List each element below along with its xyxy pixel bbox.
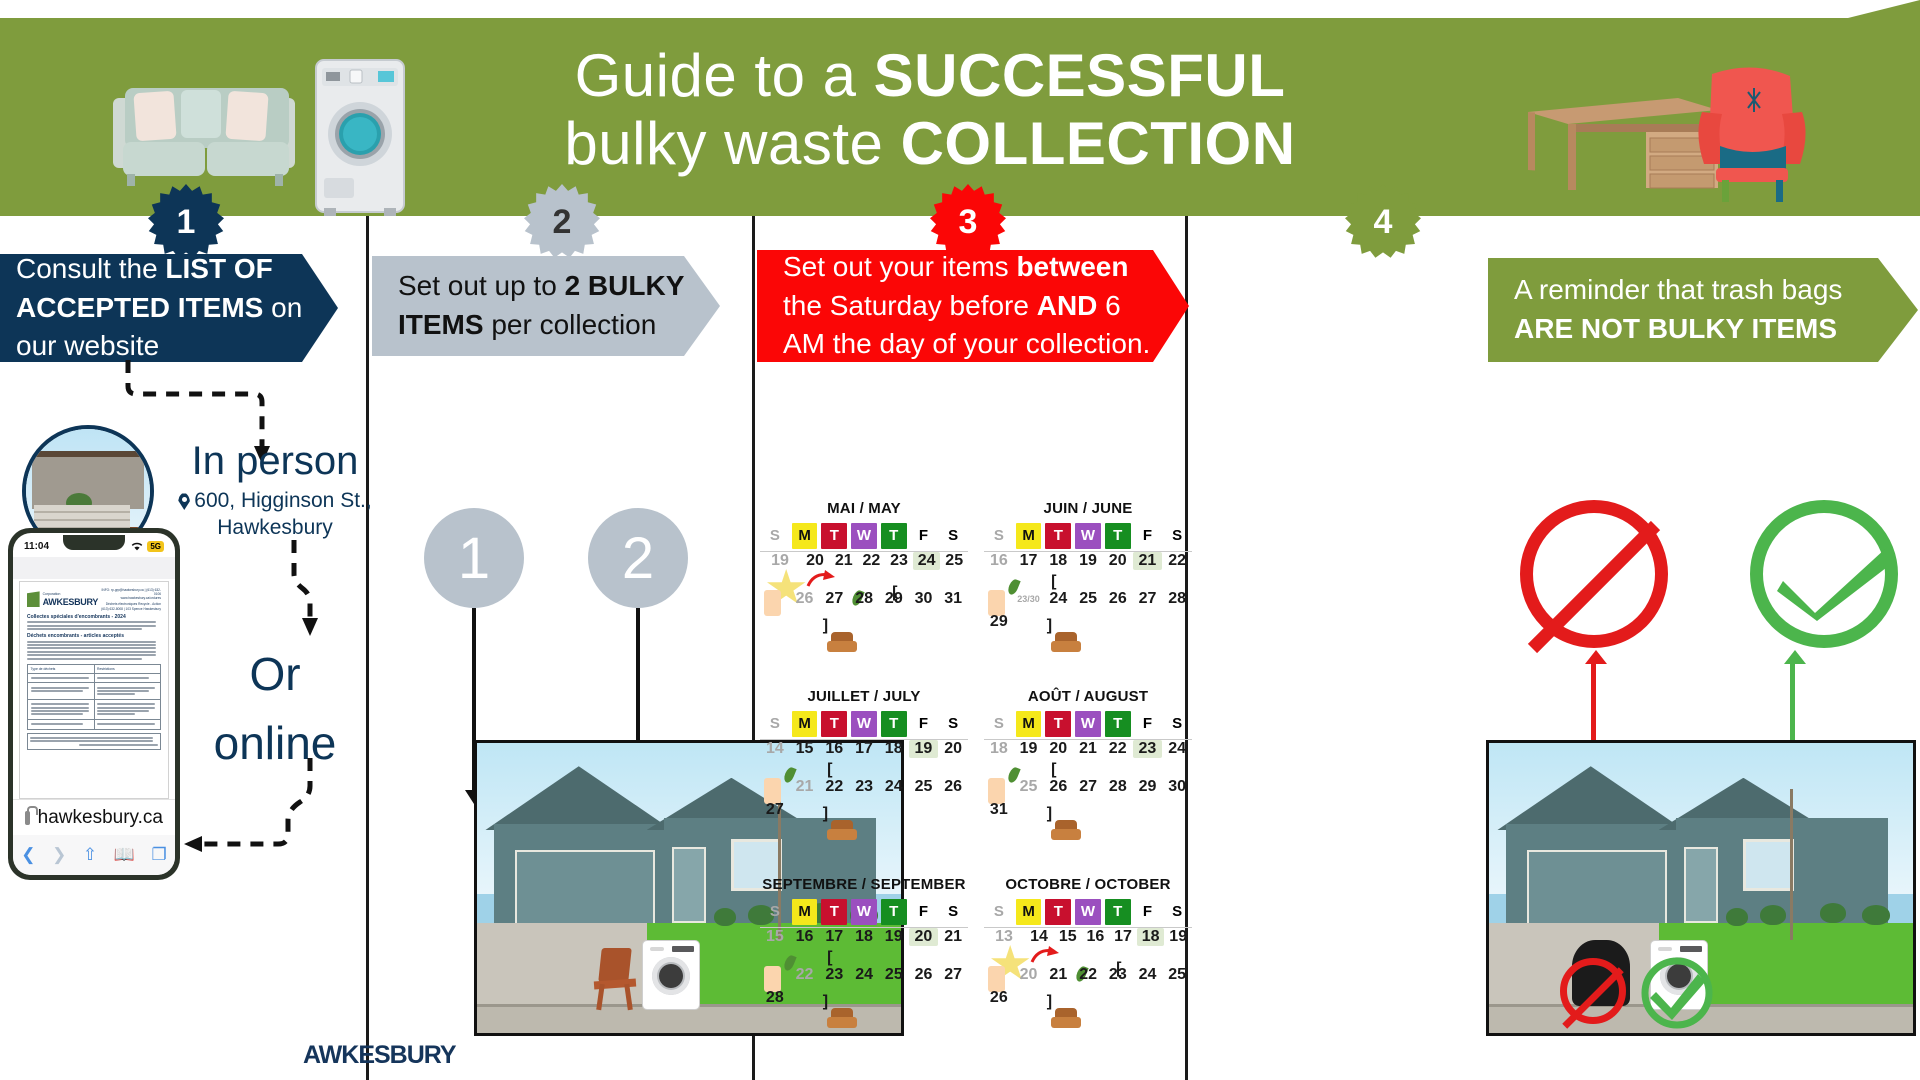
- calendar-day: 25: [940, 552, 968, 570]
- weekday-3: W: [851, 523, 877, 549]
- calendar-day: 14: [760, 740, 790, 758]
- step-1-banner: Consult the LIST OF ACCEPTED ITEMS on ou…: [0, 254, 338, 362]
- calendar-week-row: 19202122232425[: [760, 552, 968, 586]
- calendar-day: 16: [984, 552, 1014, 570]
- calendar-day: 21: [1043, 966, 1073, 984]
- weekday-4: T: [881, 711, 907, 737]
- calendar-week-row: 21222324252627]: [760, 774, 968, 808]
- in-person-block: In person 600, Higginson St., Hawkesbury: [175, 440, 375, 542]
- location-pin-icon: [178, 493, 190, 510]
- calendar-day: 20: [938, 740, 968, 758]
- calendar-day: 27: [1133, 590, 1163, 608]
- doc-table-header-right: Restrictions: [94, 665, 161, 673]
- weekday-3: W: [1075, 711, 1101, 737]
- website-url: hawkesbury.ca: [38, 807, 163, 829]
- calendar-day: 28: [1162, 590, 1192, 608]
- calendar-weekday-header: SMTWTFS: [760, 899, 968, 928]
- calendar-day: 21: [1133, 552, 1163, 570]
- calendar-day: 25: [1073, 590, 1103, 608]
- calendar-day: 30: [1162, 778, 1192, 796]
- calendar-day: 24: [1133, 966, 1163, 984]
- weekday-1: M: [1016, 711, 1042, 737]
- weekday-2: T: [1045, 899, 1071, 925]
- calendar-day: 21: [830, 552, 858, 570]
- weekday-0: S: [984, 711, 1014, 737]
- infographic-page: Guide to a SUCCESSFUL bulky waste COLLEC…: [0, 0, 1920, 1080]
- weekday-6: S: [938, 899, 968, 925]
- ok-symbol-overlay: [1640, 956, 1714, 1030]
- bulky-item-sofa-icon: [1051, 820, 1081, 840]
- weekday-1: M: [1016, 523, 1042, 549]
- calendar-day: 21: [790, 778, 820, 796]
- collection-bracket-icon: [: [1039, 574, 1069, 590]
- calendar-week-row: 16171819202122[: [984, 552, 1192, 586]
- weekday-2: T: [1045, 523, 1071, 549]
- calendar-day: 20: [909, 928, 939, 946]
- calendar-day: 26: [984, 989, 1014, 1007]
- bulky-item-sofa-icon: [1051, 1008, 1081, 1028]
- calendar-week-row: 13141516171819[: [984, 928, 1192, 962]
- weekday-2: T: [821, 899, 847, 925]
- weekday-6: S: [938, 523, 968, 549]
- document-logo: Corporation AWKESBURY INFO: rp-grp@hawke…: [27, 588, 161, 611]
- calendar-day: 25: [879, 966, 909, 984]
- washing-machine-illustration: [310, 56, 410, 216]
- collection-bracket-icon: [: [1039, 762, 1069, 778]
- ok-pointer-arrow: [1784, 650, 1806, 664]
- collection-bracket-icon: [: [815, 950, 845, 966]
- calendar-day: 19: [879, 928, 909, 946]
- calendar-day: 26: [790, 590, 820, 608]
- weekday-6: S: [1162, 523, 1192, 549]
- weekday-1: M: [792, 523, 818, 549]
- calendar-day: 23: [819, 966, 849, 984]
- calendar-day: 15: [760, 928, 790, 946]
- weekday-4: T: [1105, 523, 1131, 549]
- calendar-day: 22: [1103, 740, 1133, 758]
- weekday-0: S: [984, 523, 1014, 549]
- page-title: Guide to a SUCCESSFUL bulky waste COLLEC…: [430, 42, 1430, 178]
- calendar-day: 24: [879, 778, 909, 796]
- pointer-line-2: [636, 608, 640, 742]
- phone-clock: 11:04: [24, 541, 49, 552]
- calendar-day: 25: [1014, 778, 1044, 796]
- in-person-title: In person: [175, 440, 375, 482]
- weekday-0: S: [760, 899, 790, 925]
- no-symbol-overlay: [1560, 958, 1626, 1024]
- calendar-title: AOÛT / AUGUST: [984, 688, 1192, 705]
- calendar-title: JUILLET / JULY: [760, 688, 968, 705]
- calendar-day: 24: [1043, 590, 1073, 608]
- lock-icon: [25, 811, 30, 825]
- doc-heading-1: Collectes spéciales d'encombrants - 2024: [27, 614, 161, 620]
- calendar-day: 19: [1014, 740, 1044, 758]
- doc-brand-name: AWKESBURY: [43, 597, 98, 607]
- no-trash-bag-icon: [1520, 500, 1668, 648]
- step-1-banner-text: Consult the LIST OF ACCEPTED ITEMS on ou…: [16, 250, 312, 366]
- weekday-3: W: [1075, 899, 1101, 925]
- doc-heading-2: Déchets encombrants - articles acceptés: [27, 633, 161, 639]
- address-line-2: Hawkesbury: [217, 516, 333, 539]
- armchair-illustration: [1690, 64, 1815, 204]
- phone-browser-chrome: [13, 557, 175, 579]
- calendar-day: 19: [1073, 552, 1103, 570]
- calendar-week-row: 20212223242526]: [984, 962, 1192, 996]
- doc-contact-2: www.hawkesbury.ca/ordures: [101, 596, 161, 600]
- calendar-day: 18: [984, 740, 1014, 758]
- title-line2-bold: COLLECTION: [901, 110, 1296, 177]
- step-3-banner-text: Set out your items between the Saturday …: [783, 248, 1163, 364]
- calendar-day: 26: [938, 778, 968, 796]
- calendar-week-row: 15161718192021[: [760, 928, 968, 962]
- calendar-day: 17: [819, 928, 849, 946]
- weekday-0: S: [760, 711, 790, 737]
- calendar-day: 26: [1103, 590, 1133, 608]
- calendar-day: 17: [1014, 552, 1044, 570]
- chair-icon: [592, 948, 638, 1010]
- step-badge-2-number: 2: [553, 203, 572, 242]
- calendar-day: 27: [938, 966, 968, 984]
- calendar-day: 25: [1162, 966, 1192, 984]
- calendar-day: 25: [909, 778, 939, 796]
- doc-contact-4: (613) 632-8008 | 103 Spence Hawkesbury: [101, 607, 161, 611]
- item-count-circle-1: 1: [424, 508, 524, 608]
- collection-bracket-icon: [: [815, 762, 845, 778]
- calendar-day: 16: [1082, 928, 1110, 946]
- calendar-title: SEPTEMBRE / SEPTEMBER: [760, 876, 968, 893]
- weekday-5: F: [909, 711, 939, 737]
- calendar-week-row: 14151617181920[: [760, 740, 968, 774]
- washer-icon: [642, 940, 700, 1010]
- calendar-day: 19: [909, 740, 939, 758]
- wifi-icon: [131, 542, 143, 551]
- calendar-weekday-header: SMTWTFS: [760, 711, 968, 740]
- title-line1-plain: Guide to a: [575, 42, 874, 109]
- phone-mockup: 11:04 5G Corporation AWKESBURY: [8, 528, 180, 880]
- bookmarks-icon[interactable]: 📖: [114, 845, 135, 865]
- header-corner-flag: [1800, 0, 1920, 30]
- calendar-week-row: 22232425262728]: [760, 962, 968, 996]
- calendar-day: 30: [909, 590, 939, 608]
- calendar-day: 22: [858, 552, 886, 570]
- doc-table: Type de déchetsRestrictions: [27, 664, 161, 730]
- in-person-address: 600, Higginson St., Hawkesbury: [175, 488, 375, 542]
- calendar-day: 14: [1024, 928, 1054, 946]
- calendar-day: 17: [1109, 928, 1137, 946]
- tabs-icon[interactable]: ❐: [151, 845, 166, 865]
- calendar-day: 23: [1133, 740, 1163, 758]
- or-label: Or: [185, 640, 365, 709]
- weekday-5: F: [909, 899, 939, 925]
- calendar-weekday-header: SMTWTFS: [984, 899, 1192, 928]
- collection-calendar-grid: MAI / MAYSMTWTFS19202122232425[262728293…: [760, 500, 1192, 1060]
- calendar-day: 27: [819, 590, 849, 608]
- calendar-day: 20: [1014, 966, 1044, 984]
- calendar-day: 29: [984, 613, 1014, 631]
- check-icon: [1777, 547, 1895, 621]
- calendar-day: 22: [790, 966, 820, 984]
- step-3-banner: Set out your items between the Saturday …: [757, 250, 1189, 362]
- doc-contact-1: INFO: rp-grp@hawkesbury.ca | (613) 632-0…: [101, 588, 161, 596]
- phone-status-bar: 11:04 5G: [13, 537, 175, 555]
- network-badge: 5G: [147, 541, 164, 552]
- calendar-day: 28: [1103, 778, 1133, 796]
- weekday-4: T: [1105, 711, 1131, 737]
- calendar-day: 13: [984, 928, 1024, 946]
- hawkesbury-flag-icon: [27, 591, 40, 607]
- weekday-2: T: [821, 523, 847, 549]
- title-line1-bold: SUCCESSFUL: [874, 42, 1286, 109]
- weekday-1: M: [792, 711, 818, 737]
- column-divider-1: [366, 216, 369, 1080]
- step-4-banner-text: A reminder that trash bags ARE NOT BULKY…: [1514, 271, 1892, 348]
- header-banner: Guide to a SUCCESSFUL bulky waste COLLEC…: [0, 18, 1920, 216]
- calendar-day: 26: [1043, 778, 1073, 796]
- calendar-day: 21: [1073, 740, 1103, 758]
- share-icon[interactable]: ⇧: [83, 845, 97, 865]
- weekday-5: F: [1133, 711, 1163, 737]
- calendar-day: 18: [879, 740, 909, 758]
- calendar-week-row: 262728293031]: [760, 586, 968, 620]
- bulky-item-sofa-icon: [827, 1008, 857, 1028]
- bulky-item-sofa-icon: [1051, 632, 1081, 652]
- calendar-day: 15: [790, 740, 820, 758]
- calendar-day: 20: [1103, 552, 1133, 570]
- weekday-5: F: [1133, 523, 1163, 549]
- step-2-banner-text: Set out up to 2 BULKY ITEMS per collecti…: [398, 267, 694, 344]
- doc-table-header-left: Type de déchets: [28, 665, 94, 673]
- step-badge-3-number: 3: [959, 203, 978, 242]
- weekday-1: M: [1016, 899, 1042, 925]
- weekday-4: T: [881, 899, 907, 925]
- forward-icon[interactable]: ❯: [52, 845, 66, 865]
- dashed-connector-3: [176, 758, 336, 878]
- calendar-title: MAI / MAY: [760, 500, 968, 517]
- calendar-day: 20: [1043, 740, 1073, 758]
- bulky-item-sofa-icon: [827, 820, 857, 840]
- calendar-day: 20: [800, 552, 830, 570]
- weekday-2: T: [821, 711, 847, 737]
- calendar-day: 28: [849, 590, 879, 608]
- calendar-weekday-header: SMTWTFS: [984, 711, 1192, 740]
- hawkesbury-logo-text: AWKESBURY: [303, 1041, 456, 1070]
- weekday-4: T: [881, 523, 907, 549]
- weekday-3: W: [851, 899, 877, 925]
- weekday-2: T: [1045, 711, 1071, 737]
- calendar-day: 27: [760, 801, 790, 819]
- phone-toolbar[interactable]: ❮ ❯ ⇧ 📖 ❐: [13, 835, 175, 875]
- weekday-4: T: [1105, 899, 1131, 925]
- setout-window-band: [764, 590, 782, 616]
- calendar-day: 22: [819, 778, 849, 796]
- calendar-day: 29: [879, 590, 909, 608]
- calendar-day: 23: [849, 778, 879, 796]
- calendar-day: 23/30: [1014, 594, 1044, 604]
- weekday-5: F: [909, 523, 939, 549]
- weekday-6: S: [1162, 711, 1192, 737]
- calendar-day: 24: [849, 966, 879, 984]
- calendar-weekday-header: SMTWTFS: [984, 523, 1192, 552]
- calendar-title: JUIN / JUNE: [984, 500, 1192, 517]
- calendar-day: 31: [938, 590, 968, 608]
- calendar-day: 29: [1133, 778, 1163, 796]
- ok-washer-icon: [1750, 500, 1898, 648]
- weekday-5: F: [1133, 899, 1163, 925]
- weekday-6: S: [938, 711, 968, 737]
- weekday-3: W: [1075, 523, 1101, 549]
- no-pointer-arrow: [1585, 650, 1607, 664]
- weekday-1: M: [792, 899, 818, 925]
- hawkesbury-logo: AWKESBURY: [300, 1038, 432, 1072]
- item-count-circle-2: 2: [588, 508, 688, 608]
- address-line-1: 600, Higginson St.,: [194, 489, 371, 512]
- calendar-day: 21: [938, 928, 968, 946]
- sofa-illustration: [105, 70, 305, 190]
- calendar-day: 26: [909, 966, 939, 984]
- calendar-day: 23: [885, 552, 913, 570]
- calendar-day: 18: [1137, 928, 1165, 946]
- step-badge-4-number: 4: [1374, 203, 1393, 242]
- calendar-day: 23: [1103, 966, 1133, 984]
- calendar-week-row: 25262728293031]: [984, 774, 1192, 808]
- step-2-banner: Set out up to 2 BULKY ITEMS per collecti…: [372, 256, 720, 356]
- calendar-week-row: 18192021222324[: [984, 740, 1192, 774]
- document-preview: Corporation AWKESBURY INFO: rp-grp@hawke…: [19, 581, 169, 799]
- weekday-6: S: [1162, 899, 1192, 925]
- calendar-day: 31: [984, 801, 1014, 819]
- title-line2-plain: bulky waste: [564, 110, 900, 177]
- calendar-title: OCTOBRE / OCTOBER: [984, 876, 1192, 893]
- weekday-3: W: [851, 711, 877, 737]
- calendar-day: 27: [1073, 778, 1103, 796]
- calendar-day: 24: [1162, 740, 1192, 758]
- calendar-day: 18: [1043, 552, 1073, 570]
- calendar-day: 28: [760, 989, 790, 1007]
- weekday-0: S: [984, 899, 1014, 925]
- calendar-day: 18: [849, 928, 879, 946]
- calendar-day: 16: [819, 740, 849, 758]
- calendar-weekday-header: SMTWTFS: [760, 523, 968, 552]
- calendar-day: 16: [790, 928, 820, 946]
- step-4-banner: A reminder that trash bags ARE NOT BULKY…: [1488, 258, 1918, 362]
- calendar-day: 15: [1054, 928, 1082, 946]
- back-icon[interactable]: ❮: [21, 845, 35, 865]
- calendar-day: 24: [913, 552, 941, 570]
- calendar-day: 22: [1162, 552, 1192, 570]
- dashed-connector-2: [276, 540, 326, 640]
- calendar-day: 19: [1164, 928, 1192, 946]
- step-badge-1-number: 1: [177, 203, 196, 242]
- bulky-item-sofa-icon: [827, 632, 857, 652]
- calendar-day: 22: [1073, 966, 1103, 984]
- calendar-day: 19: [760, 552, 800, 570]
- weekday-0: S: [760, 523, 790, 549]
- calendar-day: 17: [849, 740, 879, 758]
- phone-address-bar[interactable]: hawkesbury.ca: [13, 799, 175, 835]
